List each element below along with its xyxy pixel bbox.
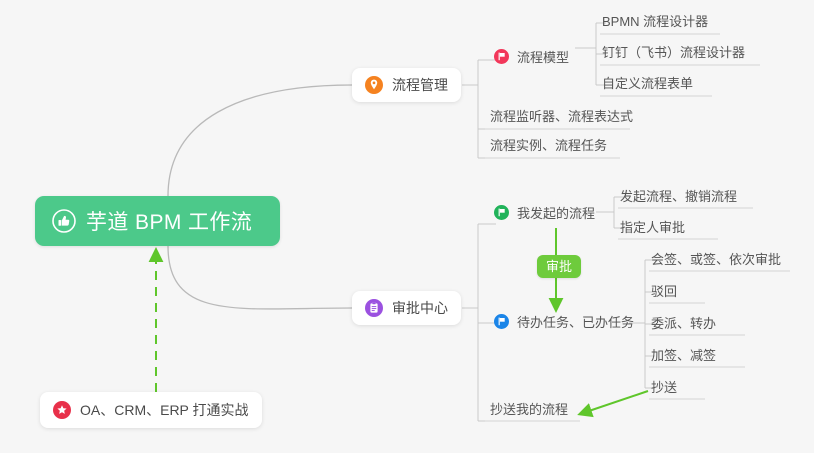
node-listener-expression[interactable]: 流程监听器、流程表达式 [490,106,633,129]
star-icon [53,401,71,419]
node-start-cancel-process[interactable]: 发起流程、撤销流程 [620,186,737,209]
edge-root-to-approval-center [168,246,352,309]
edge-root-to-process-management [168,85,352,196]
node-reject[interactable]: 驳回 [651,281,677,304]
node-process-model[interactable]: 流程模型 [494,47,569,70]
node-label-bpmn-designer: BPMN 流程设计器 [602,11,708,30]
node-label-countersign: 会签、或签、依次审批 [651,249,781,268]
approval-callout-label: 审批 [546,259,572,274]
branch-node-approval-center[interactable]: 审批中心 [352,291,461,325]
node-label-assignee-approval: 指定人审批 [620,217,685,236]
node-countersign[interactable]: 会签、或签、依次审批 [651,249,781,272]
node-label-instance-task: 流程实例、流程任务 [490,135,607,154]
node-label-reject: 驳回 [651,281,677,300]
node-cc[interactable]: 抄送 [651,377,677,400]
node-label-custom-process-form: 自定义流程表单 [602,73,693,92]
branch-node-process-management[interactable]: 流程管理 [352,68,461,102]
node-label-cc-to-me: 抄送我的流程 [490,399,568,418]
node-delegate-transfer[interactable]: 委派、转办 [651,313,716,336]
location-pin-icon [365,76,383,94]
node-label-process-model: 流程模型 [517,47,569,66]
approval-callout-tag: 审批 [537,255,581,278]
thumbs-up-icon [52,209,76,233]
node-label-add-remove-sign: 加签、减签 [651,345,716,364]
node-todo-done-tasks[interactable]: 待办任务、已办任务 [494,312,634,335]
node-label-my-initiated: 我发起的流程 [517,203,595,222]
flag-icon [494,205,509,220]
node-add-remove-sign[interactable]: 加签、减签 [651,345,716,368]
flag-icon [494,49,509,64]
node-cc-to-me[interactable]: 抄送我的流程 [490,399,568,422]
node-instance-task[interactable]: 流程实例、流程任务 [490,135,607,158]
side-note-node[interactable]: OA、CRM、ERP 打通实战 [40,392,262,428]
node-my-initiated[interactable]: 我发起的流程 [494,203,595,226]
node-label-cc: 抄送 [651,377,677,396]
arrow-cc-to-ccme [580,391,648,414]
side-note-label: OA、CRM、ERP 打通实战 [80,400,249,420]
node-label-listener-expression: 流程监听器、流程表达式 [490,106,633,125]
node-label-dingtalk-feishu-designer: 钉钉（飞书）流程设计器 [602,42,745,61]
node-label-delegate-transfer: 委派、转办 [651,313,716,332]
branch-label-process-management: 流程管理 [392,75,448,95]
flag-icon [494,314,509,329]
node-label-start-cancel-process: 发起流程、撤销流程 [620,186,737,205]
node-label-todo-done-tasks: 待办任务、已办任务 [517,312,634,331]
node-assignee-approval[interactable]: 指定人审批 [620,217,685,240]
branch-label-approval-center: 审批中心 [392,298,448,318]
node-custom-process-form[interactable]: 自定义流程表单 [602,73,693,96]
root-label: 芋道 BPM 工作流 [86,206,252,236]
root-node[interactable]: 芋道 BPM 工作流 [35,196,280,246]
clipboard-icon [365,299,383,317]
mindmap-canvas: 芋道 BPM 工作流 OA、CRM、ERP 打通实战 流程管理 流程模型 [0,0,814,453]
node-bpmn-designer[interactable]: BPMN 流程设计器 [602,11,708,34]
node-dingtalk-feishu-designer[interactable]: 钉钉（飞书）流程设计器 [602,42,745,65]
